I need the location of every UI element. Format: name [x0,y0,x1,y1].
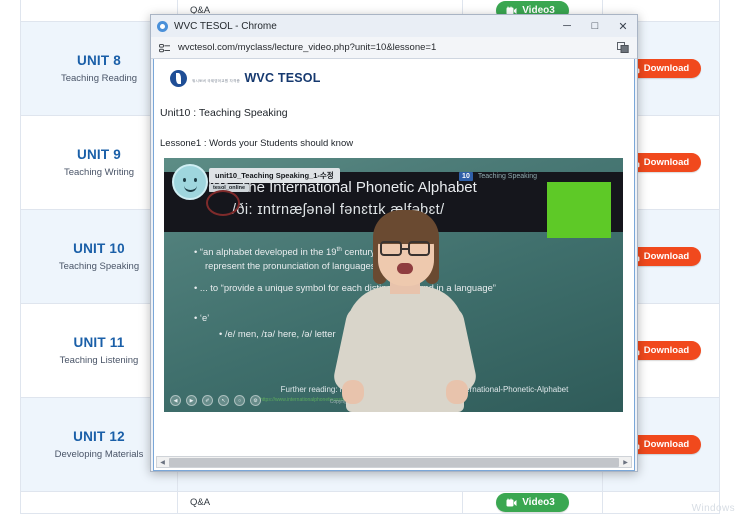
download-button-label: Download [644,157,689,168]
slide-badge-label: Teaching Speaking [478,173,537,180]
unit-subtitle: Teaching Listening [60,355,139,366]
slide-badge-number: 10 [459,172,473,181]
presenter-hair-top [373,210,439,244]
slide-background: 10 Teaching Speaking IPA: The Internatio… [164,158,623,412]
window-buttons: ─ □ ✕ [553,15,637,37]
unit-subtitle: Teaching Reading [61,73,137,84]
presenter-glasses-left [380,241,402,256]
prev-button[interactable]: ◀ [170,395,181,406]
annotation-circle [206,190,240,216]
slide-green-block [547,182,611,238]
unit-title: UNIT 10 [73,241,125,258]
avatar-eye-left [183,178,186,182]
site-favicon-icon [157,21,168,32]
maximize-button[interactable]: □ [581,15,609,37]
window-titlebar[interactable]: WVC TESOL - Chrome ─ □ ✕ [151,15,637,37]
unit-title: UNIT 9 [77,147,121,164]
slide-bullet-1-a: • “an alphabet developed in the 19 [194,246,336,257]
eraser-icon[interactable]: ○ [234,395,245,406]
logo-mark-icon [170,70,187,87]
scrollbar-thumb[interactable] [169,458,619,467]
chrome-window: WVC TESOL - Chrome ─ □ ✕ wvctesol.com/my… [150,14,638,472]
window-title: WVC TESOL - Chrome [174,21,277,32]
presenter-glasses-bridge [402,248,408,250]
avatar-mouth [184,185,197,192]
url-text[interactable]: wvctesol.com/myclass/lecture_video.php?u… [178,42,436,53]
close-button[interactable]: ✕ [609,15,637,37]
video3-button[interactable]: Video3 [496,493,569,512]
player-controls[interactable]: ◀ ▶ ✐ ↖ ○ ⚙ [170,395,261,406]
slide-unit-badge: 10 Teaching Speaking [459,172,537,181]
unit-heading: Unit10 : Teaching Speaking [160,107,288,119]
logo-korean-text: 워시토버 국제영어교원 자격증 [192,79,240,83]
video3-button-label: Video3 [522,497,555,508]
presenter-mouth [397,263,413,274]
windows-watermark: Windows [692,503,735,514]
video-player[interactable]: 10 Teaching Speaking IPA: The Internatio… [164,158,623,412]
presenter-avatar-icon [172,164,208,200]
unit-title: UNIT 8 [77,53,121,70]
translate-icon[interactable] [617,42,629,53]
address-bar[interactable]: wvctesol.com/myclass/lecture_video.php?u… [151,37,637,59]
presenter-hand-right [446,380,468,404]
logo-title: WVC TESOL [244,71,320,85]
scroll-right-arrow[interactable]: ▶ [620,459,631,466]
unit-title: UNIT 12 [73,429,125,446]
qa-label: Q&A [177,492,462,513]
logo-text-block: 워시토버 국제영어교원 자격증 WVC TESOL [192,69,321,87]
download-button-label: Download [644,439,689,450]
video-file-tag: unit10_Teaching Speaking_1-수정 [209,168,340,183]
settings-gear-icon[interactable]: ⚙ [250,395,261,406]
wvc-tesol-logo[interactable]: 워시토버 국제영어교원 자격증 WVC TESOL [170,69,321,87]
scroll-left-arrow[interactable]: ◀ [157,459,168,466]
presenter-hand-left [342,380,364,404]
pointer-icon[interactable]: ↖ [218,395,229,406]
avatar-eye-right [194,178,197,182]
unit-subtitle: Teaching Writing [64,167,134,178]
presenter-figure [340,200,470,412]
table-row: Q&AVideo3 [21,492,719,514]
page-viewport: 워시토버 국제영어교원 자격증 WVC TESOL Unit10 : Teach… [153,59,635,471]
download-button-label: Download [644,251,689,262]
horizontal-scrollbar[interactable]: ◀ ▶ [156,456,632,468]
lesson-heading: Lessone1 : Words your Students should kn… [160,138,353,149]
download-button-label: Download [644,345,689,356]
presenter-glasses-right [408,241,430,256]
minimize-button[interactable]: ─ [553,15,581,37]
video-camera-icon [506,498,517,507]
unit-subtitle: Developing Materials [55,449,144,460]
pen-icon[interactable]: ✐ [202,395,213,406]
site-info-icon[interactable] [159,42,171,53]
unit-title: UNIT 11 [74,335,125,352]
download-button-label: Download [644,63,689,74]
video-cell: Video3 [462,492,602,513]
play-button[interactable]: ▶ [186,395,197,406]
unit-subtitle: Teaching Speaking [59,261,139,272]
